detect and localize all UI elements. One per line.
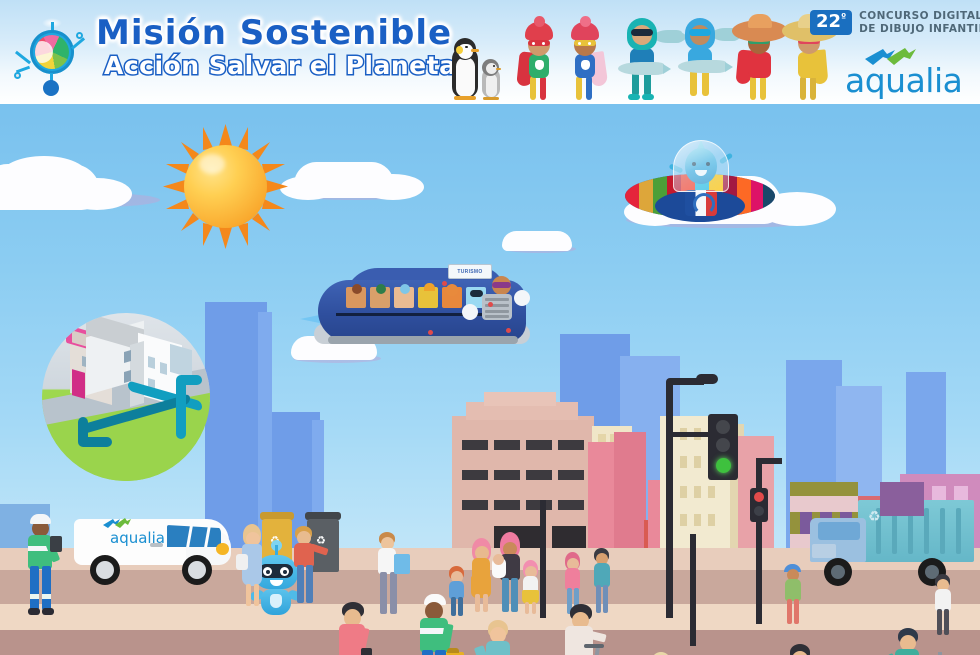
street-pole — [690, 534, 696, 646]
person-worker-toolbox — [410, 594, 460, 655]
window — [558, 440, 584, 450]
window — [494, 440, 520, 450]
window — [462, 470, 488, 480]
window — [526, 440, 552, 450]
person-child-yellow — [518, 560, 544, 614]
screenshot-root: Misión Sostenible Acción Salvar el Plane… — [0, 0, 980, 655]
person-walking-dog-right — [780, 644, 820, 655]
pedestrian-traffic-light[interactable] — [742, 434, 782, 624]
traffic-light-green — [716, 458, 731, 473]
sun-icon — [163, 124, 288, 249]
page-subtitle: Acción Salvar el Planeta — [104, 53, 441, 79]
contest-name-line1: CONCURSO DIGITAL — [859, 10, 980, 23]
character-diver-kid-blue — [672, 12, 728, 100]
window — [494, 500, 520, 510]
person-recycling — [288, 526, 322, 602]
aqualia-wordmark: aqualia — [845, 64, 962, 97]
ped-light-green — [754, 506, 764, 516]
flying-school-bus: TURISMO — [300, 254, 535, 364]
contest-name: CONCURSO DIGITAL DE DIBUJO INFANTIL — [859, 10, 980, 37]
truck-container-box — [880, 482, 924, 516]
scene-illustration: TURISMO — [0, 104, 980, 655]
tablet-icon — [50, 536, 62, 552]
contest-name-line2: DE DIBUJO INFANTIL — [859, 23, 980, 36]
person-pink-shirt-phone — [330, 602, 374, 655]
person-far-right — [930, 574, 956, 636]
header-titles: Misión Sostenible Acción Salvar el Plane… — [96, 16, 441, 79]
aqualia-logo[interactable]: aqualia — [845, 46, 970, 98]
person-aqualia-field-worker — [22, 508, 62, 616]
aqualia-service-van: aqualia — [64, 511, 239, 589]
person-teal-top-suitcase — [888, 628, 930, 655]
phone-icon — [361, 648, 372, 655]
character-emperor-penguin — [446, 36, 506, 100]
cloud-left — [0, 154, 180, 214]
window — [462, 440, 488, 450]
page-title: Misión Sostenible — [96, 16, 441, 51]
person-bag-walking — [372, 532, 404, 614]
character-diver-kid-teal — [614, 12, 670, 100]
building-tower-pink — [588, 442, 614, 552]
character-hero-kid-red-beanie — [516, 16, 562, 100]
building-block-pink-parapet2 — [484, 392, 556, 406]
window — [526, 500, 552, 510]
bus-destination-sign: TURISMO — [448, 264, 492, 279]
traffic-light[interactable] — [624, 368, 734, 618]
person-teal-top-walking — [478, 620, 522, 655]
window — [558, 470, 584, 480]
person-cap-right — [780, 564, 806, 624]
kick-scooter — [552, 646, 612, 655]
cloud-small-center — [498, 229, 584, 255]
ufo-dome — [673, 140, 729, 192]
van-aqualia-wordmark: aqualia — [110, 529, 165, 547]
traffic-light-amber — [716, 438, 730, 452]
page-header: Misión Sostenible Acción Salvar el Plane… — [0, 0, 980, 104]
window — [494, 470, 520, 480]
helmet-icon — [30, 514, 51, 524]
traffic-light-red — [716, 420, 730, 434]
shopping-bag-icon — [394, 554, 410, 574]
contest-edition-number: 22º — [810, 10, 852, 35]
contest-badge: 22º CONCURSO DIGITAL DE DIBUJO INFANTIL — [810, 10, 980, 37]
person-blue-dress-bag — [236, 524, 268, 606]
underground-pipes-inset — [42, 313, 210, 481]
window — [558, 500, 584, 510]
globe-robot-mascot-icon — [12, 16, 84, 94]
cloud-mid-left — [280, 154, 430, 204]
header-character-strip — [446, 8, 796, 100]
character-hero-kid-pink-beanie — [562, 16, 608, 100]
window — [526, 470, 552, 480]
window — [462, 500, 488, 510]
water-drop-ufo — [625, 134, 775, 228]
street-lamp-icon — [696, 374, 718, 384]
character-hero-kid-sunhat-orange — [732, 14, 788, 100]
recycle-symbol-icon: ♻ — [868, 508, 881, 525]
ped-light-red — [754, 492, 764, 502]
handbag-icon — [236, 554, 248, 570]
ufo-flag-emblem — [685, 190, 717, 216]
